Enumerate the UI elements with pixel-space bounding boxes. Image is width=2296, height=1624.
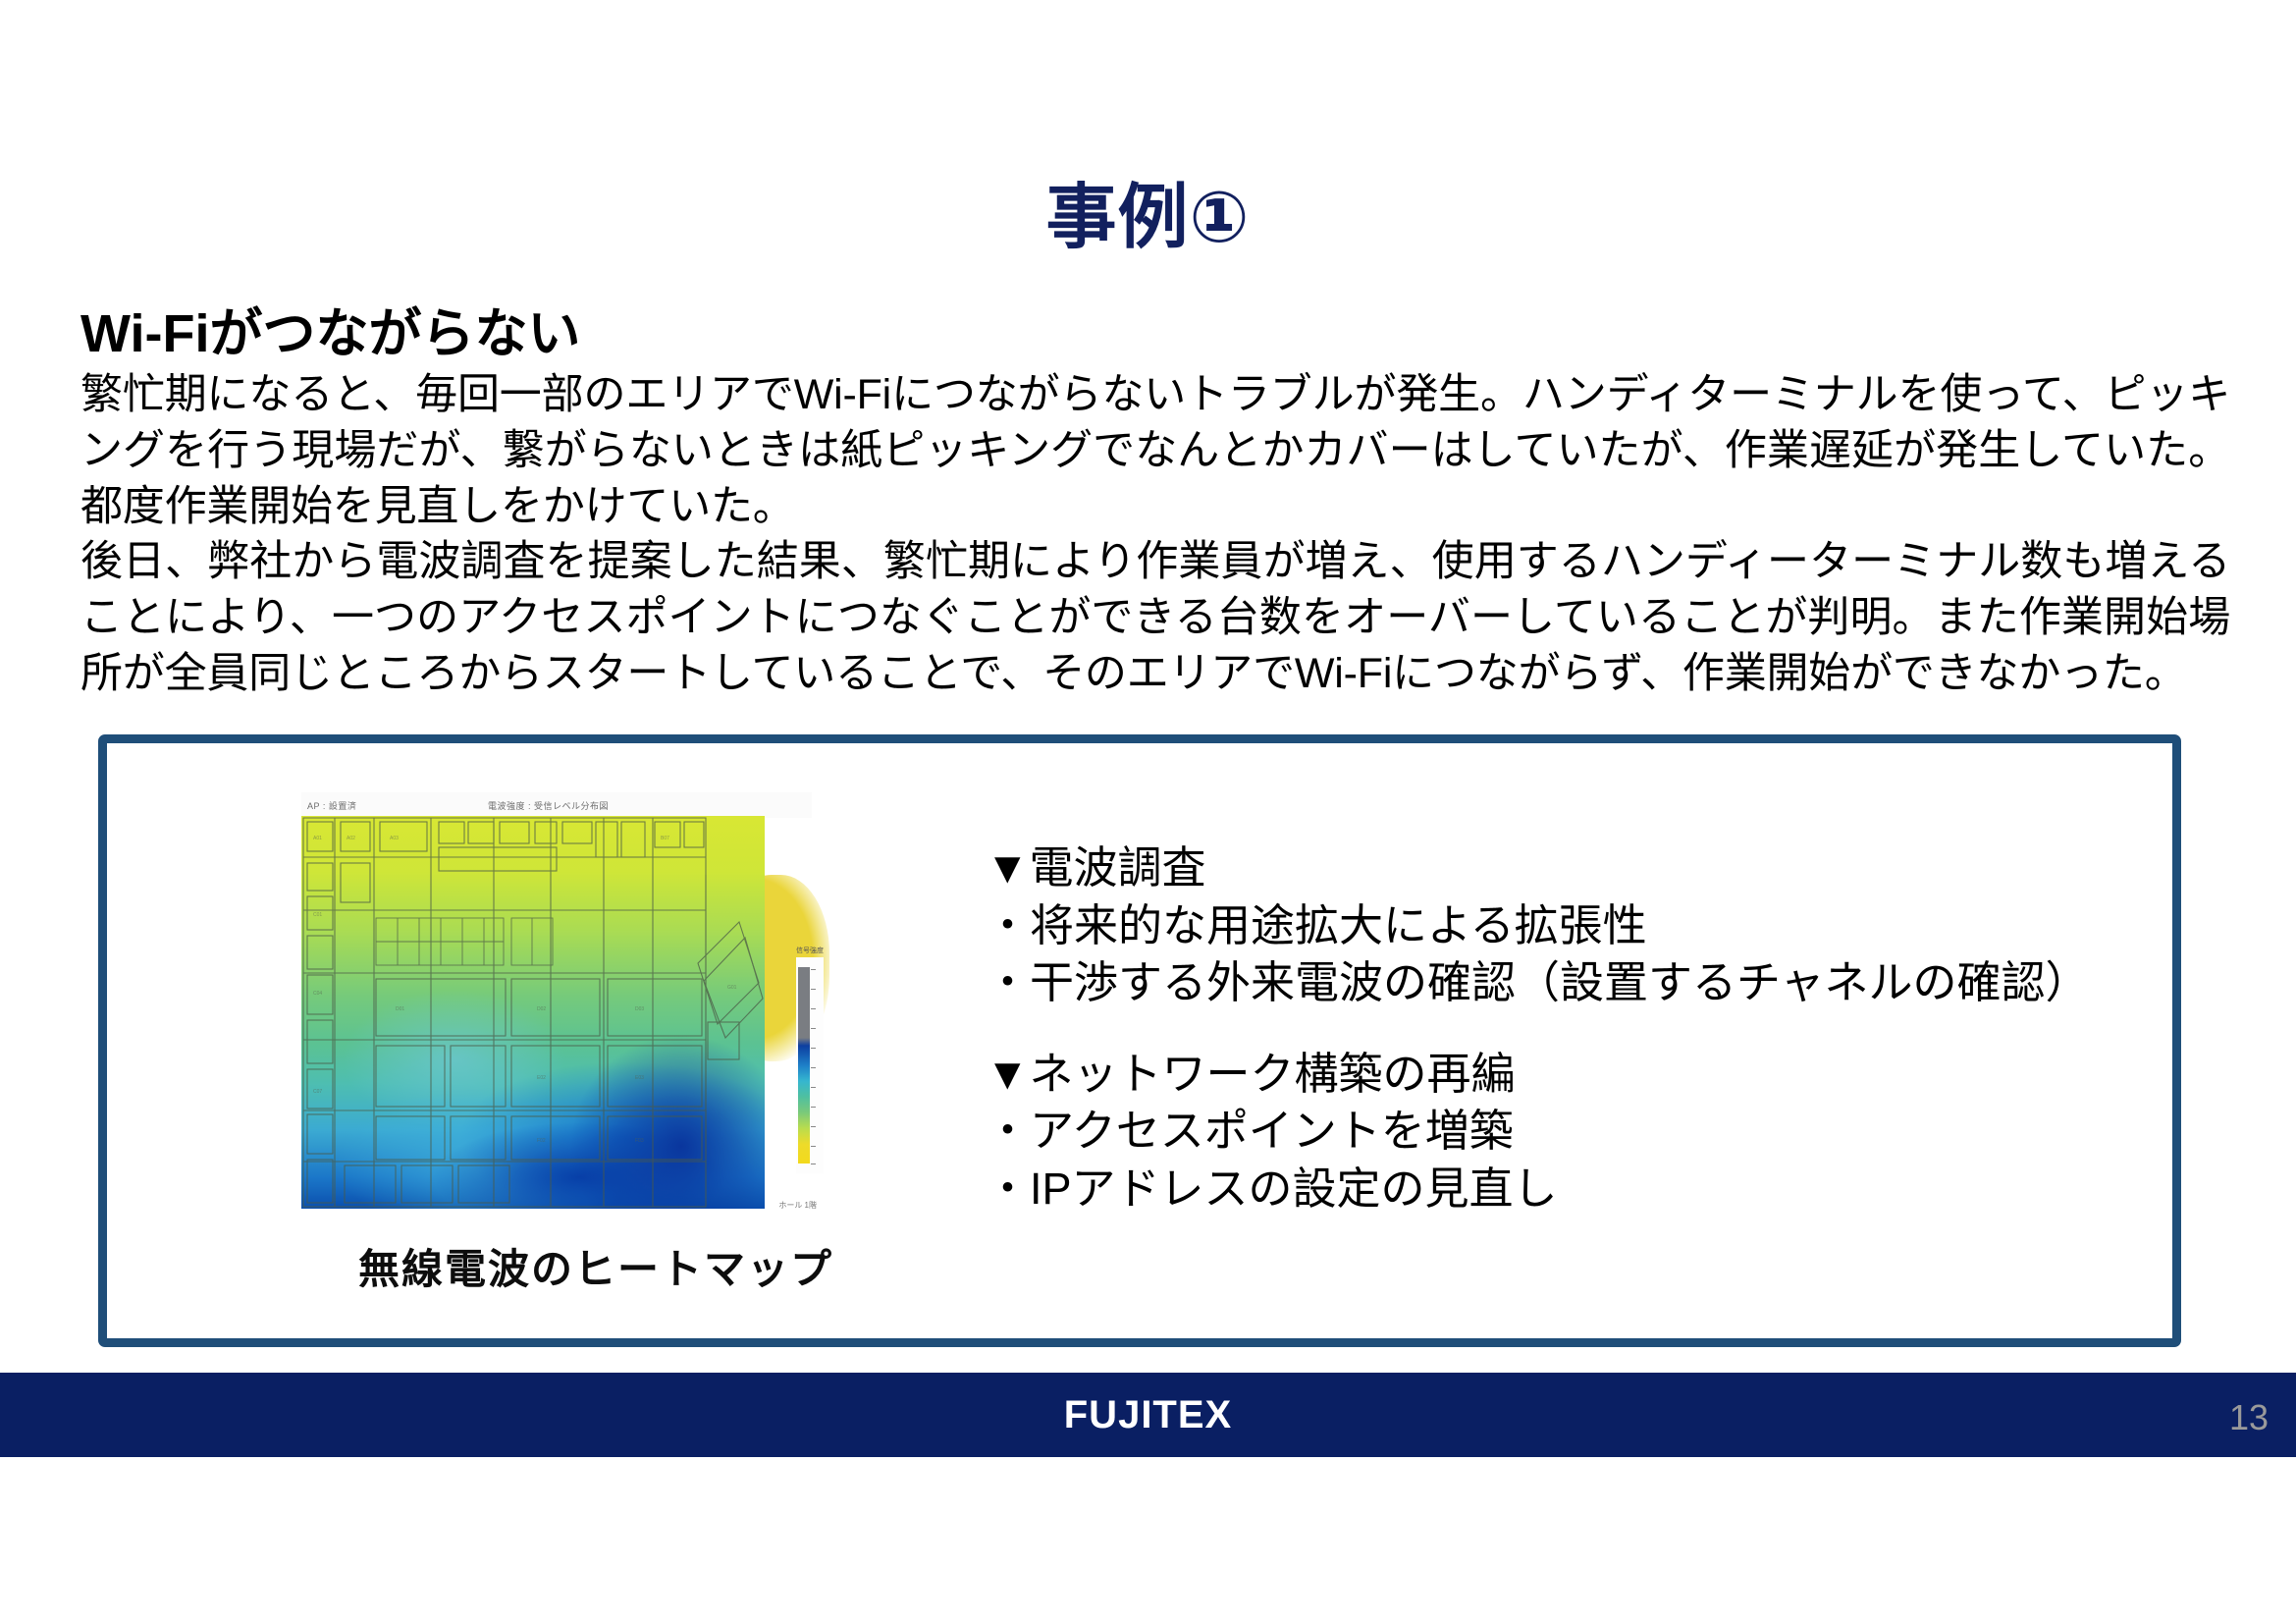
body-paragraph-1: 繁忙期になると、毎回一部のエリアでWi-Fiにつながらないトラブルが発生。ハンデ… xyxy=(80,367,2230,534)
bullet-group-survey: ▼電波調査 ・将来的な用途拡大による拡張性 ・干渉する外来電波の確認（設置するチ… xyxy=(986,839,2144,1012)
svg-text:E03: E03 xyxy=(635,1075,644,1081)
bullet-group-header: ▼電波調査 xyxy=(986,839,2144,897)
legend-caption: 信号強度 xyxy=(796,946,824,955)
bullet-column: ▼電波調査 ・将来的な用途拡大による拡張性 ・干渉する外来電波の確認（設置するチ… xyxy=(986,839,2144,1218)
svg-text:A02: A02 xyxy=(347,836,355,841)
svg-text:E02: E02 xyxy=(537,1075,546,1081)
heatmap-corner-label: ホール 1階 xyxy=(778,1200,817,1211)
svg-text:D03: D03 xyxy=(635,1006,644,1012)
body-paragraph-2: 後日、弊社から電波調査を提案した結果、繁忙期により作業員が増え、使用するハンディ… xyxy=(80,534,2230,701)
heatmap-image: AP : 設置済 電波強度 : 受信レベル分布図 xyxy=(294,792,828,1215)
legend-ticks xyxy=(811,963,824,1169)
heatmap-canvas: A01 A02 A03 B07 C01 C04 C07 D01 D02 D03 … xyxy=(301,816,765,1209)
heatmap-header-strip: AP : 設置済 電波強度 : 受信レベル分布図 xyxy=(301,792,812,818)
page-number: 13 xyxy=(2229,1373,2269,1457)
bullet-group-network: ▼ネットワーク構築の再編 ・アクセスポイントを増築 ・IPアドレスの設定の見直し xyxy=(986,1046,2144,1218)
page-title: 事例① xyxy=(0,183,2296,253)
bullet-item: ・IPアドレスの設定の見直し xyxy=(986,1161,2144,1218)
svg-text:C04: C04 xyxy=(313,991,322,997)
svg-text:F02: F02 xyxy=(537,1138,546,1144)
svg-text:G01: G01 xyxy=(727,985,737,991)
svg-text:A01: A01 xyxy=(313,836,322,841)
figure-caption: 無線電波のヒートマップ xyxy=(272,1236,920,1296)
fujitex-logo: FUJITEX xyxy=(0,1373,2296,1457)
footer-bar: FUJITEX 13 xyxy=(0,1373,2296,1457)
bullet-group-header: ▼ネットワーク構築の再編 xyxy=(986,1046,2144,1104)
body-text: 繁忙期になると、毎回一部のエリアでWi-Fiにつながらないトラブルが発生。ハンデ… xyxy=(80,367,2230,702)
heatmap-top-center-label: 電波強度 : 受信レベル分布図 xyxy=(488,799,609,812)
bullet-item: ・アクセスポイントを増築 xyxy=(986,1103,2144,1161)
svg-text:C01: C01 xyxy=(313,912,322,918)
lead-heading: Wi-Fiがつながらない xyxy=(80,304,580,363)
content-box: AP : 設置済 電波強度 : 受信レベル分布図 xyxy=(98,734,2181,1347)
bullet-item: ・将来的な用途拡大による拡張性 xyxy=(986,897,2144,955)
svg-text:D02: D02 xyxy=(537,1006,546,1012)
legend-color-bar xyxy=(798,967,810,1164)
floorplan-overlay: A01 A02 A03 B07 C01 C04 C07 D01 D02 D03 … xyxy=(301,816,765,1209)
svg-text:B07: B07 xyxy=(661,836,669,841)
svg-text:D01: D01 xyxy=(396,1006,404,1012)
heatmap-figure: AP : 設置済 電波強度 : 受信レベル分布図 xyxy=(272,792,920,1313)
svg-text:A03: A03 xyxy=(390,836,399,841)
heatmap-legend: 信号強度 xyxy=(796,957,824,1173)
heatmap-top-left-label: AP : 設置済 xyxy=(307,799,356,812)
svg-text:F03: F03 xyxy=(635,1138,644,1144)
svg-text:C07: C07 xyxy=(313,1089,322,1095)
bullet-item: ・干渉する外来電波の確認（設置するチャネルの確認） xyxy=(986,954,2144,1012)
